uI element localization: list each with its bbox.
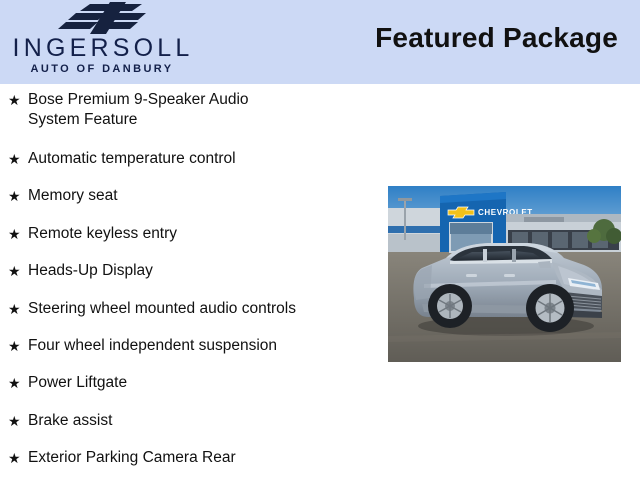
- feature-label: Bose Premium 9-Speaker Audio System Feat…: [28, 84, 380, 130]
- feature-label: Memory seat: [28, 180, 380, 206]
- dealer-name: INGERSOLL: [0, 36, 206, 61]
- star-bullet-icon: ★: [8, 186, 21, 206]
- star-bullet-icon: ★: [8, 336, 21, 356]
- dealer-brand-block: INGERSOLL AUTO OF DANBURY: [0, 0, 210, 84]
- feature-label: Exterior Parking Camera Rear: [28, 442, 380, 468]
- feature-list-item: ★Remote keyless entry: [0, 218, 380, 255]
- star-bullet-icon: ★: [8, 90, 21, 110]
- star-bullet-icon: ★: [8, 224, 21, 244]
- star-bullet-icon: ★: [8, 149, 21, 169]
- feature-label: Automatic temperature control: [28, 143, 380, 169]
- page-header: INGERSOLL AUTO OF DANBURY Featured Packa…: [0, 0, 640, 84]
- star-bullet-icon: ★: [8, 299, 21, 319]
- feature-list: ★Bose Premium 9-Speaker Audio System Fea…: [0, 84, 380, 480]
- star-bullet-icon: ★: [8, 448, 21, 468]
- page-title: Featured Package: [375, 22, 618, 54]
- feature-list-item: ★Heads-Up Display: [0, 255, 380, 292]
- star-bullet-icon: ★: [8, 411, 21, 431]
- vehicle-photo: CHEVROLET: [388, 186, 621, 362]
- feature-list-item: ★Power Liftgate: [0, 367, 380, 404]
- feature-label: Four wheel independent suspension: [28, 330, 380, 356]
- feature-list-item: ★Bose Premium 9-Speaker Audio System Fea…: [0, 84, 380, 143]
- feature-label: Steering wheel mounted audio controls: [28, 293, 380, 319]
- feature-list-item: ★Brake assist: [0, 405, 380, 442]
- feature-list-item: ★Four wheel independent suspension: [0, 330, 380, 367]
- feature-label: Heads-Up Display: [28, 255, 380, 281]
- feature-label: Power Liftgate: [28, 367, 380, 393]
- ingersoll-winged-emblem-icon: [46, 2, 166, 36]
- dealer-tagline: AUTO OF DANBURY: [0, 64, 204, 75]
- feature-list-item: ★Automatic temperature control: [0, 143, 380, 180]
- feature-list-item: ★Exterior Parking Camera Rear: [0, 442, 380, 479]
- star-bullet-icon: ★: [8, 261, 21, 281]
- feature-list-item: ★Memory seat: [0, 180, 380, 217]
- feature-list-item: ★Steering wheel mounted audio controls: [0, 293, 380, 330]
- feature-label: Remote keyless entry: [28, 218, 380, 244]
- feature-label: Brake assist: [28, 405, 380, 431]
- star-bullet-icon: ★: [8, 373, 21, 393]
